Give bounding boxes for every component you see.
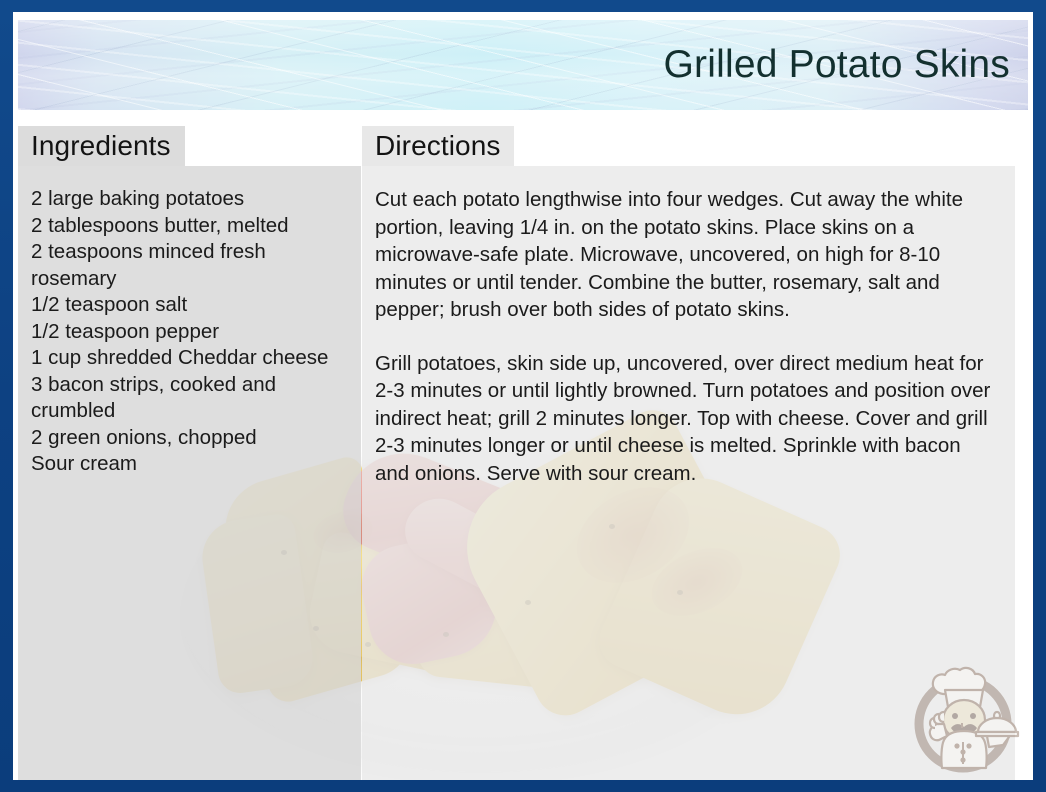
- ingredient-item: Sour cream: [31, 451, 349, 478]
- ingredients-panel: 2 large baking potatoes 2 tablespoons bu…: [18, 166, 361, 780]
- directions-column: Directions Cut each potato lengthwise in…: [362, 120, 1015, 780]
- ingredient-item: 3 bacon strips, cooked and crumbled: [31, 372, 349, 425]
- ingredient-item: 1/2 teaspoon salt: [31, 292, 349, 319]
- ingredient-item: 1 cup shredded Cheddar cheese: [31, 345, 349, 372]
- header-banner: Grilled Potato Skins: [18, 20, 1028, 110]
- directions-paragraph: Cut each potato lengthwise into four wed…: [375, 186, 1003, 324]
- ingredients-column: Ingredients 2 large baking potatoes 2 ta…: [18, 120, 361, 780]
- directions-paragraph: Grill potatoes, skin side up, uncovered,…: [375, 350, 1003, 488]
- recipe-title: Grilled Potato Skins: [664, 43, 1011, 87]
- ingredient-item: 2 teaspoons minced fresh rosemary: [31, 239, 349, 292]
- ingredient-item: 2 green onions, chopped: [31, 425, 349, 452]
- ingredient-item: 2 tablespoons butter, melted: [31, 213, 349, 240]
- directions-tab: Directions: [362, 126, 514, 166]
- ingredient-item: 1/2 teaspoon pepper: [31, 319, 349, 346]
- ingredients-tab: Ingredients: [18, 126, 185, 166]
- ingredient-item: 2 large baking potatoes: [31, 186, 349, 213]
- recipe-card: Grilled Potato Skins Ingredients 2 large…: [0, 0, 1046, 792]
- recipe-page: Grilled Potato Skins Ingredients 2 large…: [13, 12, 1033, 780]
- directions-panel: Cut each potato lengthwise into four wed…: [362, 166, 1015, 780]
